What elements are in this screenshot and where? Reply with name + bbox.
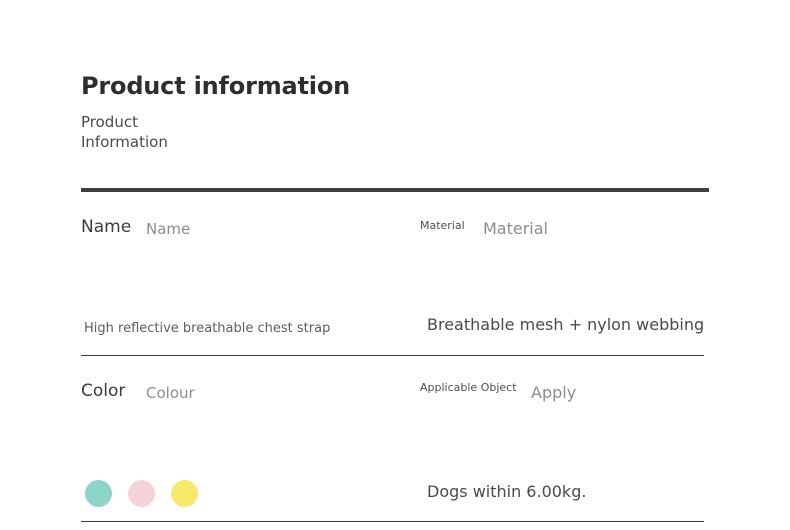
product-information-page: Product information Product Information … [0,0,790,530]
field-label-color: Color [81,381,125,401]
color-swatch-group [85,480,198,507]
field-value-applicable-object: Dogs within 6.00kg. [427,482,586,501]
field-value-name: High reflective breathable chest strap [84,321,330,336]
field-label-material-translation: Material [483,219,548,238]
page-title: Product information [81,72,350,100]
field-label-applicable-object: Applicable Object [420,381,517,394]
color-swatch-yellow[interactable] [171,480,198,507]
field-label-color-translation: Colour [146,384,195,402]
page-subtitle: Product Information [81,112,281,152]
table-top-rule [81,188,709,192]
field-label-name-translation: Name [146,220,190,238]
field-label-applicable-object-translation: Apply [531,383,576,402]
table-bottom-rule [81,521,704,522]
field-value-material: Breathable mesh + nylon webbing [427,315,704,334]
field-label-name: Name [81,217,131,237]
field-label-material: Material [420,219,465,232]
table-middle-rule [81,355,704,356]
color-swatch-pink[interactable] [128,480,155,507]
color-swatch-mint[interactable] [85,480,112,507]
